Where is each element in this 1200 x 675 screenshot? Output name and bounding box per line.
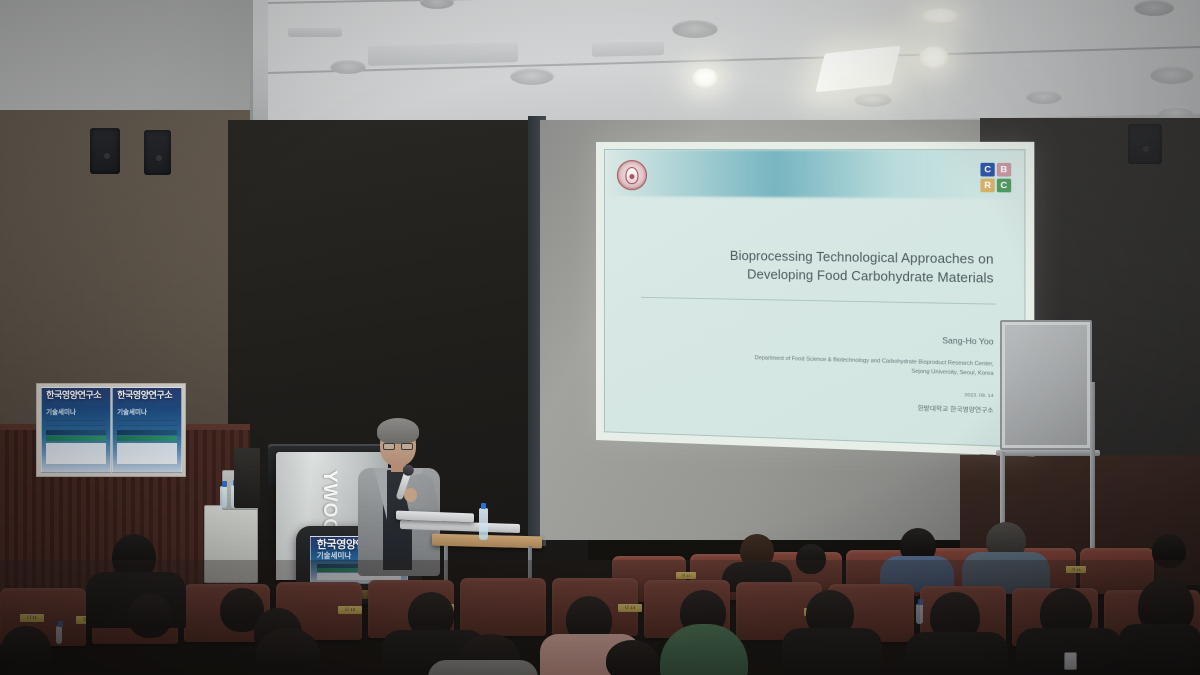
presenter [352,418,448,578]
ceiling-downlight [672,20,718,38]
whiteboard-surface [1005,325,1087,445]
slide-accent-band [605,150,1024,199]
poster-schedule-block [46,443,106,465]
logo-letter-b: B [997,163,1012,177]
logo-letter-c2: C [997,178,1012,192]
poster-divider [117,420,177,421]
presentation-slide: C B R C Bioprocessing Technological Appr… [604,149,1026,448]
ceiling-downlight-on [692,68,718,88]
ceiling-downlight [854,92,892,107]
slide-author: Sang-Ho Yoo [942,336,993,347]
projection-screen: C B R C Bioprocessing Technological Appr… [596,142,1034,457]
ceiling-downlight-on [919,46,949,69]
ceiling-center-panel [268,0,1200,132]
slide-title: Bioprocessing Technological Approaches o… [605,246,994,288]
poster-strip-accent [117,436,177,441]
slide-date: 2023. 09. 14 [964,393,993,399]
poster-subtitle: 기술세미나 [117,406,177,416]
water-bottle [220,486,227,508]
poster-strip-dark [117,430,177,435]
wall-speaker-left [90,128,120,174]
poster-divider [117,425,177,426]
wall-poster-2: 한국영양연구소 기술세미나 [112,387,182,473]
poster-title: 한국영양연구소 [46,391,106,400]
ceiling-downlight [1134,0,1174,16]
presenter-lapel-left [374,468,387,520]
presenter-hand [404,488,417,502]
floor [0,560,1200,675]
whiteboard-marker-tray [996,450,1100,456]
ceiling-vent [592,41,664,57]
equipment-rack [234,448,260,508]
lecture-hall-scene: 한국영양연구소 기술세미나 한국영양연구소 기술세미나 C B R C Bi [0,0,1200,675]
ceiling-downlight-on [920,8,960,24]
poster-subtitle: 기술세미나 [46,406,106,416]
whiteboard [1000,320,1092,450]
slide-divider-rule [641,297,996,305]
ceiling-speaker-grille [288,28,342,37]
table-water-bottle [479,508,488,540]
ceiling-downlight [510,68,554,85]
wall-poster-1: 한국영양연구소 기술세미나 [41,387,111,473]
ceiling-seam [250,0,253,132]
ceiling-vent [368,42,518,66]
ceiling-mounted-speaker [1128,124,1162,164]
cbrc-logo-icon: C B R C [980,163,1011,193]
slide-affiliation: Department of Food Science & Biotechnolo… [633,351,994,379]
logo-letter-r: R [980,178,995,192]
podium-brand-label: YWOO [318,470,340,534]
whiteboard-leg [1090,382,1095,560]
presenter-hair [377,418,419,444]
ceiling-downlight [330,60,366,74]
poster-strip-dark [46,430,106,435]
poster-divider [46,420,106,421]
poster-title: 한국영양연구소 [117,391,177,400]
wall-speaker-right [144,130,171,175]
ceiling-downlight [1150,66,1194,84]
slide-organization: 한밭대학교 한국영양연구소 [918,403,994,415]
poster-divider [46,425,106,426]
sejong-university-emblem-icon [617,160,647,190]
logo-letter-c1: C [980,163,995,177]
poster-strip-accent [46,436,106,441]
ceiling-downlight [1026,90,1062,104]
presenter-glasses-icon [383,443,413,450]
poster-schedule-block [117,443,177,465]
